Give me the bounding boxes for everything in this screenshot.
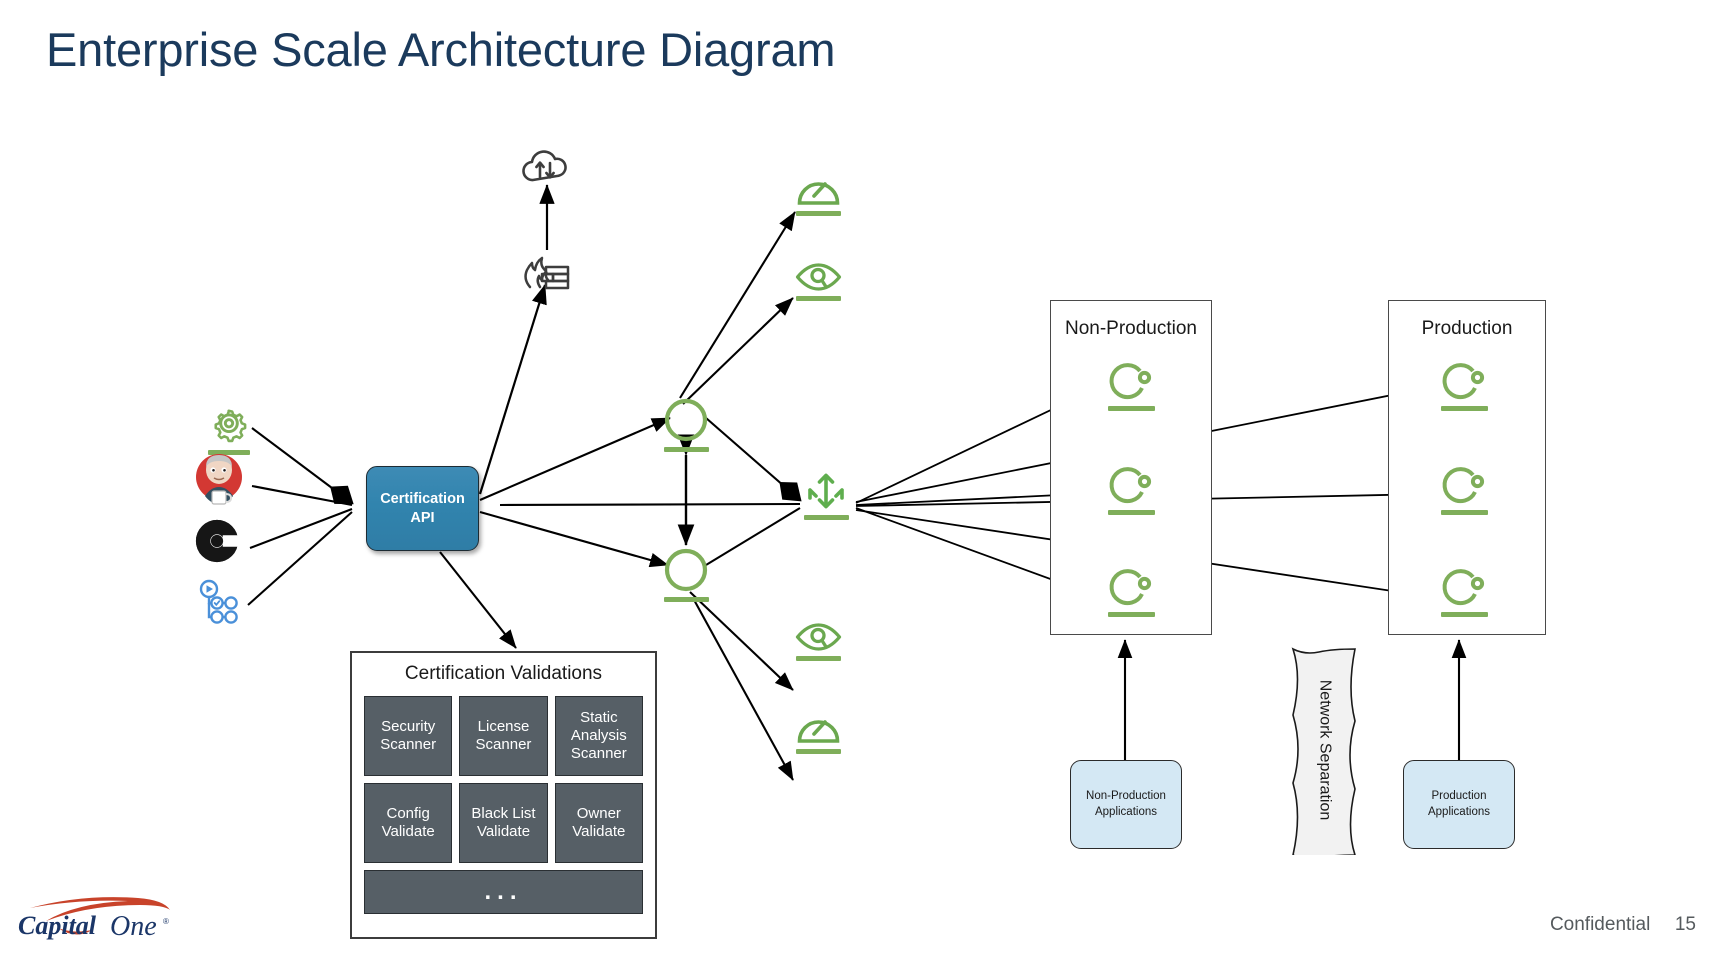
app-box-non-production[interactable]: Non-Production Applications	[1070, 760, 1182, 849]
service-node-icon	[1439, 568, 1489, 608]
service-node-icon	[1439, 466, 1489, 506]
service-node-icon	[1439, 362, 1489, 402]
gauge-icon[interactable]	[792, 710, 844, 754]
monitor-eye-icon[interactable]	[792, 262, 844, 301]
wires-api-to-artifacts	[480, 418, 670, 565]
app-box-production-line2: Applications	[1428, 805, 1490, 821]
pipeline-icon-glyph	[196, 578, 240, 624]
validation-tile[interactable]: Security Scanner	[364, 696, 452, 776]
service-node-non-production[interactable]	[1105, 466, 1157, 515]
service-node-production[interactable]	[1438, 362, 1490, 411]
gear-icon	[206, 404, 252, 455]
service-node-icon	[1106, 568, 1156, 608]
svg-text:Capital: Capital	[18, 911, 97, 940]
artifact-node-top[interactable]	[660, 397, 712, 452]
env-title-non-production: Non-Production	[1051, 318, 1211, 340]
svg-text:One: One	[110, 911, 157, 942]
gauge-icon-glyph	[795, 710, 842, 745]
wires-artifacts-to-deploy	[500, 418, 800, 565]
app-box-non-production-line1: Non-Production	[1086, 789, 1166, 805]
service-node-icon	[1106, 466, 1156, 506]
certification-api-node[interactable]: Certification API	[366, 466, 479, 551]
artifact-node-bottom[interactable]	[660, 547, 712, 602]
cloud-sync-icon-glyph	[518, 146, 574, 190]
service-node-production[interactable]	[1438, 568, 1490, 617]
app-box-non-production-line2: Applications	[1086, 805, 1166, 821]
confidential-label: Confidential	[1550, 914, 1650, 935]
validation-tile[interactable]: Static Analysis Scanner	[555, 696, 643, 776]
certification-api-line1: Certification	[380, 490, 465, 508]
validation-tile[interactable]: Config Validate	[364, 783, 452, 863]
cloud-sync-icon	[518, 146, 574, 190]
gear-icon-glyph	[208, 404, 250, 446]
page-title: Enterprise Scale Architecture Diagram	[46, 22, 835, 77]
capital-one-logo: Capital One ®	[10, 886, 190, 946]
svg-text:®: ®	[163, 917, 169, 926]
confidential-footer: Confidential 15	[1550, 914, 1696, 936]
monitor-eye-icon[interactable]	[792, 622, 844, 661]
pipeline-icon	[196, 578, 240, 624]
network-separation-banner: Network Separation	[1285, 645, 1363, 855]
wire-api-to-firewall	[480, 285, 545, 494]
certification-validations-panel: Certification Validations Security Scann…	[350, 651, 657, 939]
wires-artifact-to-observability-bottom	[690, 592, 793, 780]
circle-node-icon	[663, 547, 709, 593]
service-node-icon	[1106, 362, 1156, 402]
network-separation-label: Network Separation	[1315, 680, 1333, 821]
circle-node-icon	[663, 397, 709, 443]
wires-sources-to-api	[248, 428, 352, 605]
jenkins-icon	[192, 450, 246, 508]
certification-api-line2: API	[380, 509, 465, 527]
validation-tile[interactable]: Owner Validate	[555, 783, 643, 863]
wire-api-to-validations	[440, 552, 516, 648]
service-node-non-production[interactable]	[1105, 362, 1157, 411]
service-node-non-production[interactable]	[1105, 568, 1157, 617]
monitor-eye-icon-glyph	[795, 262, 842, 292]
capital-one-logo-glyph: Capital One ®	[10, 886, 190, 946]
validation-tile[interactable]: Black List Validate	[459, 783, 547, 863]
monitor-eye-icon-glyph	[795, 622, 842, 652]
app-box-production-line1: Production	[1428, 789, 1490, 805]
jenkins-icon-glyph	[192, 450, 246, 508]
app-box-production[interactable]: Production Applications	[1403, 760, 1515, 849]
validations-title: Certification Validations	[364, 663, 643, 685]
wires-artifact-to-observability-top	[680, 212, 795, 404]
circleci-icon	[194, 518, 240, 564]
gauge-icon-glyph	[795, 172, 842, 207]
validation-more-tile[interactable]: ...	[364, 870, 643, 914]
firewall-icon-glyph	[518, 245, 572, 291]
circleci-icon-glyph	[194, 518, 240, 564]
network-separation-label-wrap: Network Separation	[1285, 645, 1363, 855]
slide-canvas: Enterprise Scale Architecture Diagram	[0, 0, 1726, 960]
validations-grid: Security Scanner License Scanner Static …	[364, 696, 643, 863]
deploy-anchor-icon[interactable]	[800, 472, 852, 520]
deploy-anchor-glyph	[803, 472, 849, 512]
page-number: 15	[1675, 914, 1696, 935]
env-title-production: Production	[1389, 318, 1545, 340]
service-node-production[interactable]	[1438, 466, 1490, 515]
validation-tile[interactable]: License Scanner	[459, 696, 547, 776]
gauge-icon[interactable]	[792, 172, 844, 216]
firewall-icon	[518, 245, 572, 291]
